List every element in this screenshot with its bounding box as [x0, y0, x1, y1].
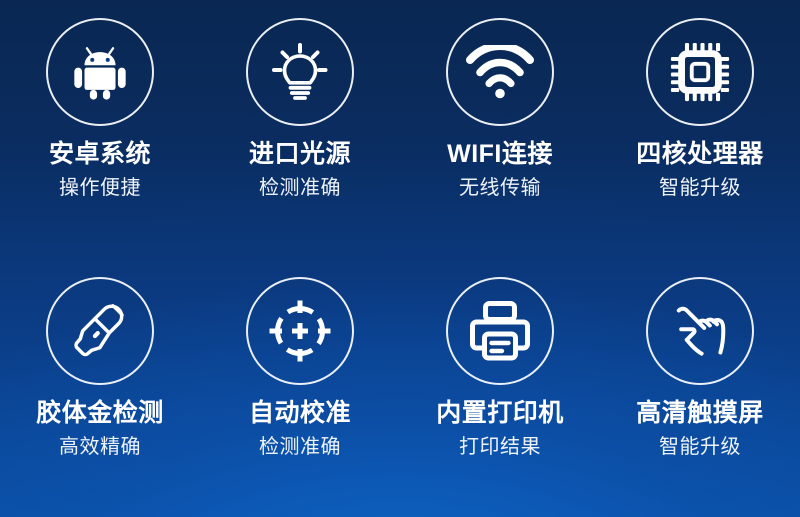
- feature-title: 自动校准: [249, 401, 351, 426]
- feature-title: 进口光源: [249, 142, 351, 167]
- printer-icon: [446, 277, 554, 385]
- feature-subtitle: 检测准确: [259, 437, 341, 457]
- feature-cell-auto-calibration: 自动校准 检测准确: [200, 259, 400, 517]
- touch-hand-icon: [646, 277, 754, 385]
- feature-title: 四核处理器: [636, 142, 764, 167]
- feature-cell-cpu: 四核处理器 智能升级: [600, 0, 800, 259]
- pipette-dropper-icon: [46, 277, 154, 385]
- feature-subtitle: 检测准确: [259, 178, 341, 198]
- feature-poster: 安卓系统 操作便捷: [0, 0, 800, 517]
- feature-title: 胶体金检测: [36, 401, 164, 426]
- feature-cell-light-source: 进口光源 检测准确: [200, 0, 400, 259]
- feature-subtitle: 打印结果: [459, 437, 541, 457]
- crosshair-target-icon: [246, 277, 354, 385]
- feature-subtitle: 智能升级: [659, 178, 741, 198]
- cpu-chip-icon: [646, 18, 754, 126]
- wifi-signal-icon: [446, 18, 554, 126]
- feature-cell-android: 安卓系统 操作便捷: [0, 0, 200, 259]
- feature-grid: 安卓系统 操作便捷: [0, 0, 800, 517]
- feature-cell-colloidal-gold: 胶体金检测 高效精确: [0, 259, 200, 517]
- feature-title: 内置打印机: [436, 401, 564, 426]
- feature-subtitle: 高效精确: [59, 437, 141, 457]
- feature-title: WIFI连接: [447, 142, 553, 167]
- feature-subtitle: 无线传输: [459, 178, 541, 198]
- feature-subtitle: 操作便捷: [59, 178, 141, 198]
- feature-cell-touchscreen: 高清触摸屏 智能升级: [600, 259, 800, 517]
- feature-title: 安卓系统: [49, 142, 151, 167]
- feature-title: 高清触摸屏: [636, 401, 764, 426]
- lightbulb-icon: [246, 18, 354, 126]
- feature-cell-wifi: WIFI连接 无线传输: [400, 0, 600, 259]
- feature-subtitle: 智能升级: [659, 437, 741, 457]
- feature-cell-printer: 内置打印机 打印结果: [400, 259, 600, 517]
- android-robot-icon: [46, 18, 154, 126]
